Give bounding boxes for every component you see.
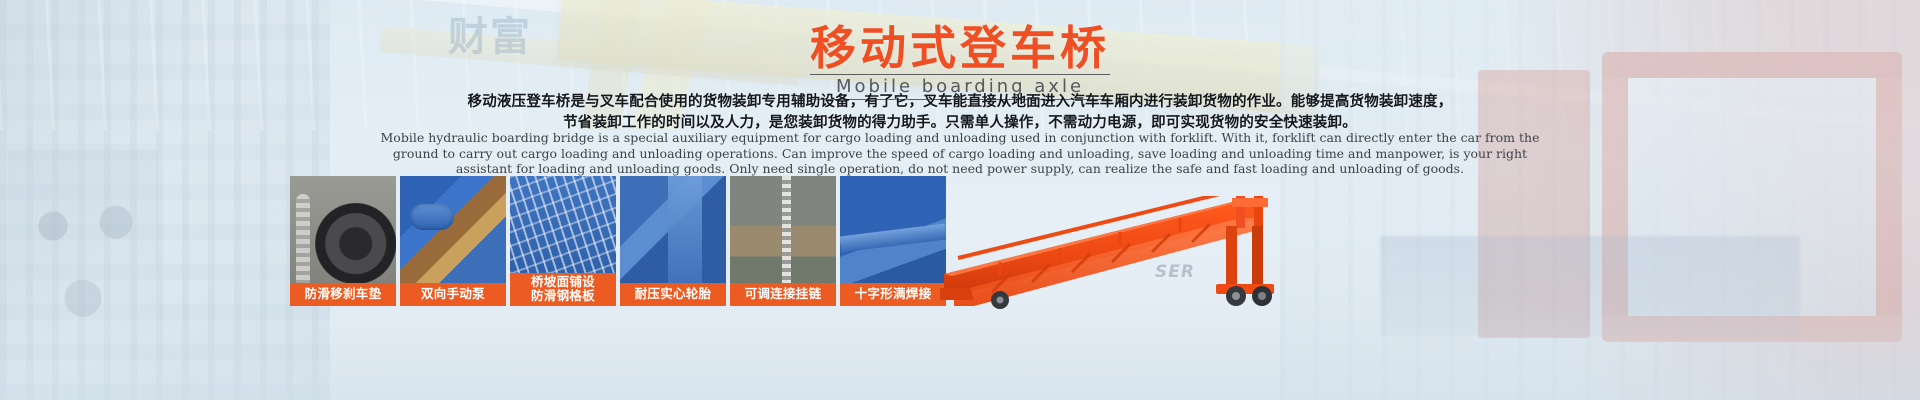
- description-english-line-2: ground to carry out cargo loading and un…: [340, 146, 1580, 162]
- description-english-line-3: assistant for loading and unloading good…: [340, 161, 1580, 177]
- feature-caption-line-1: 桥坡面铺设: [512, 275, 614, 289]
- feature-thumbnail[interactable]: 防滑移刹车垫: [290, 176, 396, 306]
- feature-caption: 耐压实心轮胎: [620, 283, 726, 306]
- banner-content: 移动式登车桥 Mobile boarding axle 移动液压登车桥是与叉车配…: [0, 0, 1920, 400]
- feature-caption-line-2: 防滑钢格板: [512, 289, 614, 303]
- feature-thumbnail[interactable]: 双向手动泵: [400, 176, 506, 306]
- feature-thumbnail[interactable]: 桥坡面铺设 防滑钢格板: [510, 176, 616, 306]
- description-chinese: 移动液压登车桥是与叉车配合使用的货物装卸专用辅助设备，有了它，叉车能直接从地面进…: [0, 92, 1920, 134]
- mobile-boarding-ramp-product: [940, 196, 1320, 346]
- floor-watermark-text: SER: [1155, 262, 1195, 282]
- description-english-line-1: Mobile hydraulic boarding bridge is a sp…: [340, 130, 1580, 146]
- page-title: 移动式登车桥: [0, 24, 1920, 72]
- feature-thumbnail-list: 防滑移刹车垫 双向手动泵 桥坡面铺设 防滑钢格板 耐压实心轮胎 可调连接挂链: [290, 176, 946, 306]
- feature-thumbnail[interactable]: 耐压实心轮胎: [620, 176, 726, 306]
- product-banner: 财富 移动式登车桥 Mobile boarding axle 移动液压登车桥是与…: [0, 0, 1920, 400]
- feature-caption: 桥坡面铺设 防滑钢格板: [510, 273, 616, 306]
- description-english: Mobile hydraulic boarding bridge is a sp…: [340, 130, 1580, 177]
- feature-caption: 可调连接挂链: [730, 283, 836, 306]
- feature-thumbnail[interactable]: 可调连接挂链: [730, 176, 836, 306]
- description-chinese-line-1: 移动液压登车桥是与叉车配合使用的货物装卸专用辅助设备，有了它，叉车能直接从地面进…: [0, 92, 1920, 113]
- title-block: 移动式登车桥 Mobile boarding axle: [0, 24, 1920, 100]
- feature-caption: 双向手动泵: [400, 283, 506, 306]
- feature-caption: 十字形满焊接: [840, 283, 946, 306]
- feature-thumbnail[interactable]: 十字形满焊接: [840, 176, 946, 306]
- ramp-illustration: [940, 196, 1320, 346]
- feature-caption: 防滑移刹车垫: [290, 283, 396, 306]
